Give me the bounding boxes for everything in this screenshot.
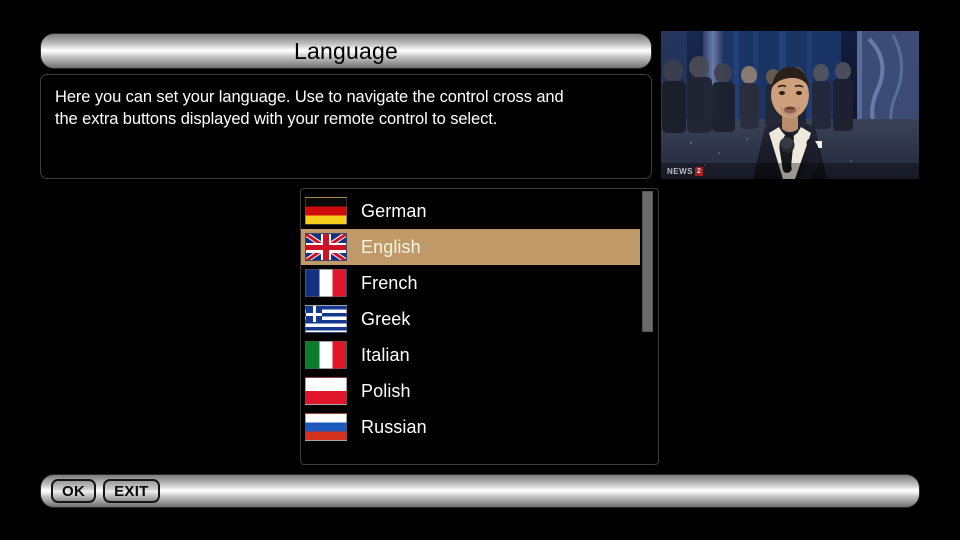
live-tv-preview[interactable]: NEWS 2 xyxy=(661,31,919,179)
language-label: French xyxy=(361,274,418,292)
page-title-bar: Language xyxy=(40,33,652,69)
flag-fr-icon xyxy=(305,269,347,297)
page-title: Language xyxy=(294,40,398,63)
softkey-bar: OKEXIT xyxy=(40,474,920,508)
description-text: Here you can set your language. Use to n… xyxy=(55,87,637,131)
language-list-scrollbar[interactable] xyxy=(642,191,653,462)
ok-button[interactable]: OK xyxy=(51,479,96,503)
language-row-italian[interactable]: Italian xyxy=(301,337,640,373)
exit-button[interactable]: EXIT xyxy=(103,479,160,503)
language-row-german[interactable]: German xyxy=(301,193,640,229)
flag-ru-icon xyxy=(305,413,347,441)
language-row-english[interactable]: English xyxy=(301,229,640,265)
flag-it-icon xyxy=(305,341,347,369)
flag-de-icon xyxy=(305,197,347,225)
language-list: GermanEnglishFrenchGreekItalianPolishRus… xyxy=(301,193,640,464)
language-row-russian[interactable]: Russian xyxy=(301,409,640,445)
language-label: Russian xyxy=(361,418,427,436)
channel-watermark-text: NEWS xyxy=(667,167,693,176)
language-list-panel[interactable]: GermanEnglishFrenchGreekItalianPolishRus… xyxy=(300,188,659,465)
scrollbar-thumb[interactable] xyxy=(642,191,653,332)
language-row-polish[interactable]: Polish xyxy=(301,373,640,409)
language-label: Polish xyxy=(361,382,411,400)
description-panel: Here you can set your language. Use to n… xyxy=(40,74,652,179)
flag-gr-icon xyxy=(305,305,347,333)
channel-watermark: NEWS 2 xyxy=(667,167,703,176)
language-label: Greek xyxy=(361,310,411,328)
flag-pl-icon xyxy=(305,377,347,405)
language-label: English xyxy=(361,238,421,256)
language-label: German xyxy=(361,202,427,220)
tv-settings-screen: Language Here you can set your language.… xyxy=(0,0,960,540)
language-label: Italian xyxy=(361,346,410,364)
flag-gb-icon xyxy=(305,233,347,261)
preview-video-frame xyxy=(661,31,919,179)
channel-watermark-badge: 2 xyxy=(695,167,703,176)
language-row-french[interactable]: French xyxy=(301,265,640,301)
language-row-greek[interactable]: Greek xyxy=(301,301,640,337)
